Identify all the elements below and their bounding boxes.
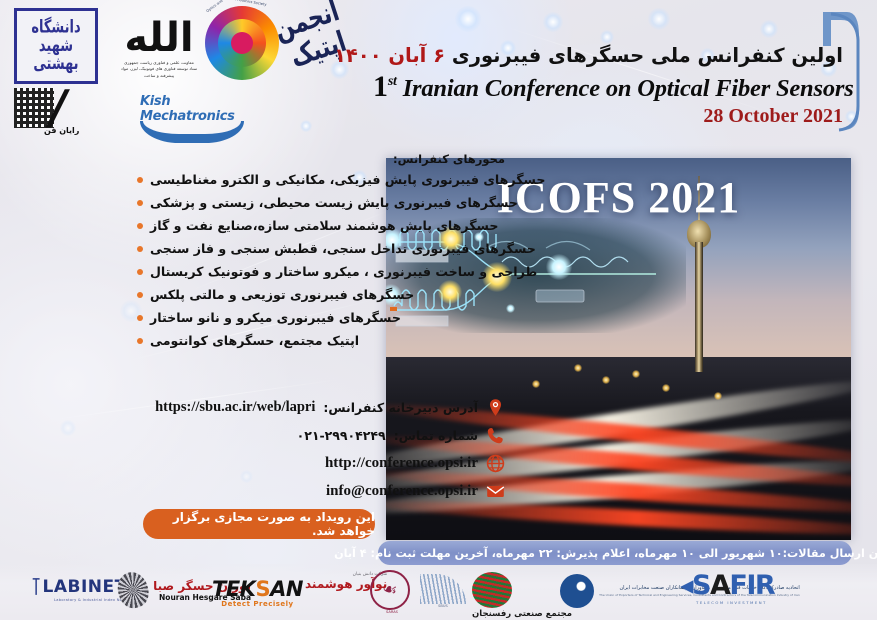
bokeh-dot xyxy=(60,420,76,436)
sbu-logo-glyph: دانشگاهشهیدبهشتی xyxy=(31,18,80,73)
topic-item: حسگرهای فیبرنوری پایش زیست محیطی، زیستی … xyxy=(137,196,505,210)
topic-item: حسگرهای پایش هوشمند سلامتی سازه،صنایع نف… xyxy=(137,219,505,233)
phone-icon xyxy=(486,426,505,445)
bullet-icon xyxy=(137,223,143,229)
globe-icon xyxy=(486,454,505,473)
teksan-label: TEKSAN xyxy=(212,577,303,601)
safir-label: ◂SAFIR xyxy=(680,572,774,600)
logo-sbus: SBUS xyxy=(420,574,466,608)
virtual-event-notice: این رویداد به صورت مجازی برگزار خواهد شد… xyxy=(143,509,375,539)
topic-label: حسگرهای فیبرنوری تداخل سنجی، قطبش سنجی و… xyxy=(150,242,536,256)
virtual-event-label: این رویداد به صورت مجازی برگزار خواهد شد… xyxy=(143,510,375,538)
bokeh-dot xyxy=(543,12,563,32)
deadline-text: زمان ارسال مقالات:۱۰ شهریور الی ۱۰ مهرما… xyxy=(334,547,877,560)
saras-inner-glyph: ☙ xyxy=(380,579,399,602)
streetlamp-icon xyxy=(632,370,640,378)
tower-shaft xyxy=(695,242,703,372)
logo-mojtame-sanati-rafsanjan: مجتمع صنعتی رفسنجان xyxy=(472,572,572,619)
bokeh-dot xyxy=(455,6,481,32)
iran-emblem-caption: معاونت علمی و فناوری ریاست جمهوریستاد تو… xyxy=(120,60,198,79)
logo-teksan: TEKSAN Detect Precisely xyxy=(212,577,303,608)
topic-label: حسگرهای پایش هوشمند سلامتی سازه،صنایع نف… xyxy=(150,219,498,233)
contact-row-website: http://conference.opsi.ir xyxy=(137,454,505,473)
saras-label: SARAS xyxy=(370,610,414,614)
sbus-label: SBUS xyxy=(420,604,466,608)
streetlamp-icon xyxy=(714,392,722,400)
date-persian: ۶ آبان ۱۴۰۰ xyxy=(334,44,445,67)
contact-row-phone: شماره تماس: ۰۲۱-۲۹۹۰۴۲۴۹ xyxy=(137,426,505,445)
iran-emblem-icon: الله xyxy=(120,18,198,58)
topic-item: حسگرهای فیبرنوری پایش فیزیکی، مکانیکی و … xyxy=(137,173,505,187)
logo-iran-vice-presidency: الله معاونت علمی و فناوری ریاست جمهوریست… xyxy=(120,18,198,84)
contact-address-value[interactable]: https://sbu.ac.ir/web/lapri xyxy=(155,399,315,416)
logo-optics-photonics-society-of-iran: Optics and Photonics Society xyxy=(205,6,279,80)
title-english-text: Iranian Conference on Optical Fiber Sens… xyxy=(403,75,854,102)
logo-rayan-fan: / رایان فن xyxy=(14,86,132,138)
streetlamp-icon xyxy=(532,380,540,388)
topic-item: حسگرهای فیبرنوری میکرو و نانو ساختار xyxy=(137,311,505,325)
bullet-icon xyxy=(137,292,143,298)
topic-item: اپتیک مجتمع، حسگرهای کوانتومی xyxy=(137,334,505,348)
conference-topics: محورهای کنفرانس: حسگرهای فیبرنوری پایش ف… xyxy=(137,152,505,357)
teksan-sublabel: Detect Precisely xyxy=(212,600,303,608)
topic-label: حسگرهای فیبرنوری پایش زیست محیطی، زیستی … xyxy=(150,196,518,210)
topic-item: حسگرهای فیبرنوری تداخل سنجی، قطبش سنجی و… xyxy=(137,242,505,256)
contact-address-label: آدرس دبیرخانه کنفرانس: xyxy=(323,400,478,415)
rafsanjan-label: مجتمع صنعتی رفسنجان xyxy=(472,609,572,619)
envelope-icon xyxy=(486,482,505,501)
title-block: اولین کنفرانس ملی حسگرهای فیبرنوری ۶ آبا… xyxy=(373,44,843,128)
sbus-fan-icon xyxy=(420,574,466,604)
union-globe-icon xyxy=(560,574,594,608)
contact-email-value[interactable]: info@conference.opsi.ir xyxy=(326,483,478,500)
topic-label: حسگرهای فیبرنوری میکرو و نانو ساختار xyxy=(150,311,401,325)
light-glow xyxy=(546,254,572,280)
topic-label: اپتیک مجتمع، حسگرهای کوانتومی xyxy=(150,334,359,348)
conference-poster: دانشگاهشهیدبهشتی الله معاونت علمی و فناو… xyxy=(0,0,877,620)
streetlamp-icon xyxy=(602,376,610,384)
topic-item: طراحی و ساخت فیبرنوری ، میکرو ساختار و ف… xyxy=(137,265,505,279)
kish-swoosh-icon xyxy=(140,121,244,143)
contact-phone-label: شماره تماس: xyxy=(394,428,478,443)
logo-shahid-beheshti-university: دانشگاهشهیدبهشتی xyxy=(14,8,98,84)
topic-label: طراحی و ساخت فیبرنوری ، میکرو ساختار و ف… xyxy=(150,265,537,279)
bullet-icon xyxy=(137,177,143,183)
bokeh-dot xyxy=(648,8,670,30)
bokeh-dot xyxy=(300,120,312,132)
contact-phone-value[interactable]: ۰۲۱-۲۹۹۰۴۲۴۹ xyxy=(297,428,386,443)
rayan-qr-icon xyxy=(14,88,54,128)
contact-website-value[interactable]: http://conference.opsi.ir xyxy=(325,455,478,472)
labinet-mark-icon: ⊺ xyxy=(30,578,43,596)
bokeh-dot xyxy=(760,20,778,38)
contact-row-address: آدرس دبیرخانه کنفرانس: https://sbu.ac.ir… xyxy=(137,398,505,417)
bullet-icon xyxy=(137,315,143,321)
contact-block: آدرس دبیرخانه کنفرانس: https://sbu.ac.ir… xyxy=(137,398,505,510)
kish-label: Kish Mechatronics xyxy=(140,94,250,124)
rafsanjan-disc-icon xyxy=(472,572,512,608)
title-english: 1st Iranian Conference on Optical Fiber … xyxy=(373,70,843,104)
topic-item: حسگرهای فیبرنوری توزیعی و مالتی پلکس xyxy=(137,288,505,302)
light-glow xyxy=(506,304,515,313)
bullet-icon xyxy=(137,269,143,275)
location-pin-icon xyxy=(486,398,505,417)
bullet-icon xyxy=(137,200,143,206)
sponsor-footer: ⊺LABINET Laboratory & Industrial Index N… xyxy=(0,564,877,620)
topics-heading: محورهای کنفرانس: xyxy=(137,152,505,166)
title-ordinal: 1st xyxy=(373,70,397,103)
nouran-swirl-icon xyxy=(114,569,153,612)
logo-saras: ☙ SARAS xyxy=(370,570,414,614)
topic-label: حسگرهای فیبرنوری توزیعی و مالتی پلکس xyxy=(150,288,414,302)
topic-label: حسگرهای فیبرنوری پایش فیزیکی، مکانیکی و … xyxy=(150,173,545,187)
streetlamp-icon xyxy=(662,384,670,392)
bullet-icon xyxy=(137,338,143,344)
streetlamp-icon xyxy=(574,364,582,372)
bullet-icon xyxy=(137,246,143,252)
rayan-label: رایان فن xyxy=(44,126,79,135)
title-persian-text: اولین کنفرانس ملی حسگرهای فیبرنوری xyxy=(452,44,843,67)
contact-row-email: info@conference.opsi.ir xyxy=(137,482,505,501)
saras-ring-icon: ☙ xyxy=(370,570,410,610)
bokeh-dot xyxy=(600,30,614,44)
labinet-label: LABINET xyxy=(43,577,127,597)
date-english: 28 October 2021 xyxy=(373,105,843,128)
deadline-bar: زمان ارسال مقالات:۱۰ شهریور الی ۱۰ مهرما… xyxy=(378,541,852,565)
logo-safir: ◂SAFIR TELECOM INVESTMENT xyxy=(680,572,774,605)
logo-kish-mechatronics: Kish Mechatronics xyxy=(140,94,250,138)
title-persian: اولین کنفرانس ملی حسگرهای فیبرنوری ۶ آبا… xyxy=(373,44,843,68)
